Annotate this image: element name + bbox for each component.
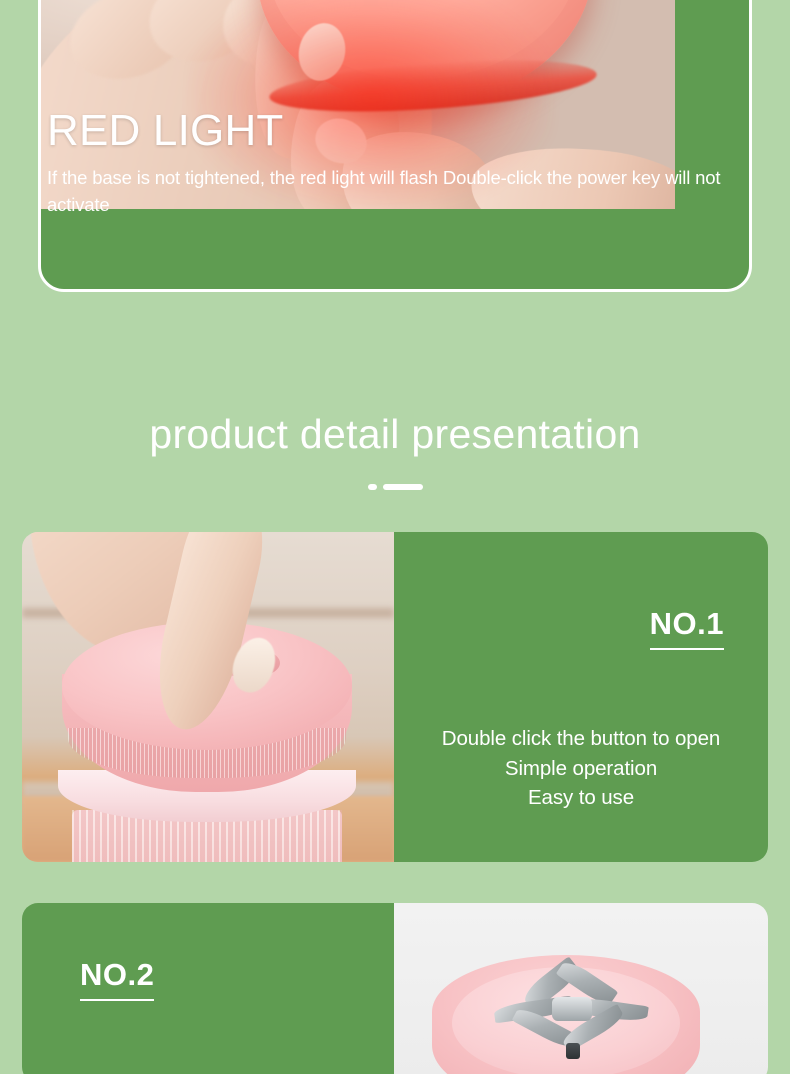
red-light-card: RED LIGHT If the base is not tightened, … xyxy=(38,0,752,292)
detail-card-1: NO.1 Double click the button to open Sim… xyxy=(22,532,768,862)
title-divider xyxy=(0,484,790,490)
blade-shaft xyxy=(566,1043,580,1059)
divider-dash-icon xyxy=(383,484,423,490)
card-1-number-badge: NO.1 xyxy=(650,608,724,650)
feature-line: Simple operation xyxy=(394,754,768,784)
feature-line: Double click the button to open xyxy=(394,724,768,754)
red-light-description: If the base is not tightened, the red li… xyxy=(47,165,751,219)
section-title: product detail presentation xyxy=(0,414,790,455)
divider-dot-icon xyxy=(368,484,377,490)
red-light-text-area: RED LIGHT If the base is not tightened, … xyxy=(41,113,749,289)
feature-line: Easy to use xyxy=(394,783,768,813)
card-2-number-badge: NO.2 xyxy=(80,959,154,1001)
card-2-content: NO.2 xyxy=(22,903,394,1074)
blade-hub xyxy=(552,997,592,1021)
card-1-photo xyxy=(22,532,394,862)
detail-card-2: NO.2 xyxy=(22,903,768,1074)
red-light-title: RED LIGHT xyxy=(47,109,284,153)
card-1-feature-list: Double click the button to open Simple o… xyxy=(394,724,768,813)
card-1-content: NO.1 Double click the button to open Sim… xyxy=(394,532,768,862)
card-2-photo xyxy=(394,903,768,1074)
